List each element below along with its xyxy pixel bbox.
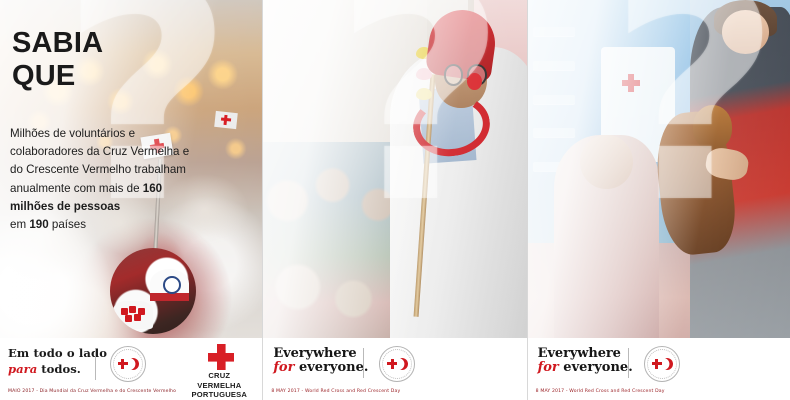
- body-text-emphasis: 190: [29, 218, 48, 231]
- panel-footer: Em todo o lado para todos. MAIO 2017 - D…: [0, 338, 262, 400]
- panel-artwork: ? DID YOU KNOW This Red Cross truck, dri…: [528, 0, 790, 338]
- panel-footer: Everywhere for everyone. 8 MAY 2017 - Wo…: [528, 338, 790, 400]
- slogan-rest: everyone.: [559, 360, 633, 375]
- footer-fineprint: MAIO 2017 - Dia Mundial da Cruz Vermelha…: [8, 389, 176, 394]
- footer-divider: [363, 348, 364, 378]
- slogan-rest: everyone.: [294, 360, 368, 375]
- slogan-line-1: Everywhere: [538, 346, 633, 361]
- slogan-line-2: for everyone.: [538, 360, 633, 375]
- body-text-part: Milhões de voluntários e colaboradores d…: [10, 127, 189, 195]
- slogan-emphasis: for: [538, 360, 559, 375]
- red-cross-icon: [208, 344, 234, 370]
- campaign-slogan: Everywhere for everyone.: [273, 346, 368, 375]
- bandana-shape: [113, 301, 153, 329]
- circular-photo-inset: [110, 248, 196, 334]
- slogan-emphasis: for: [273, 360, 294, 375]
- body-text-part: países: [49, 218, 86, 231]
- poster-panel-goat-mongolia: ? DID YOU KNOW This Red Cross truck, dri…: [527, 0, 790, 400]
- ifrc-emblem-icon: [110, 346, 146, 382]
- poster-panel-clowns-greece: ? DID YOU KNOW The Red Cross used profes…: [262, 0, 526, 400]
- slogan-line-1: Em todo o lado: [8, 346, 107, 360]
- national-society-name: CRUZ VERMELHA PORTUGUESA: [182, 371, 256, 400]
- panel-body-text: Milhões de voluntários e colaboradores d…: [10, 125, 190, 235]
- photo-scrim: [263, 0, 526, 338]
- slogan-line-2: para todos.: [8, 362, 107, 376]
- body-text-part: em: [10, 218, 29, 231]
- ifrc-emblem-icon: [379, 346, 415, 382]
- footer-fineprint: 8 MAY 2017 - World Red Cross and Red Cre…: [271, 389, 400, 394]
- footer-divider: [628, 348, 629, 378]
- slogan-emphasis: para: [8, 362, 37, 376]
- campaign-slogan: Em todo o lado para todos.: [8, 346, 107, 376]
- slogan-line-2: for everyone.: [273, 360, 368, 375]
- page-title: SABIA QUE: [12, 27, 103, 93]
- panel-footer: Everywhere for everyone. 8 MAY 2017 - Wo…: [263, 338, 526, 400]
- panel-artwork: ? DID YOU KNOW The Red Cross used profes…: [263, 0, 526, 338]
- cruz-vermelha-portuguesa-logo: CRUZ VERMELHA PORTUGUESA: [182, 344, 256, 394]
- panel-artwork: ? SABIA QUE Milhões de voluntários e col…: [0, 0, 262, 338]
- slogan-rest: todos.: [37, 362, 81, 376]
- poster-panel-sabia-que: ? SABIA QUE Milhões de voluntários e col…: [0, 0, 262, 400]
- footer-fineprint: 8 MAY 2017 - World Red Cross and Red Cre…: [536, 389, 665, 394]
- slogan-line-1: Everywhere: [273, 346, 368, 361]
- poster-board: ? SABIA QUE Milhões de voluntários e col…: [0, 0, 790, 400]
- ifrc-emblem-icon: [644, 346, 680, 382]
- campaign-slogan: Everywhere for everyone.: [538, 346, 633, 375]
- photo-scrim: [528, 0, 790, 338]
- footer-divider: [95, 348, 96, 380]
